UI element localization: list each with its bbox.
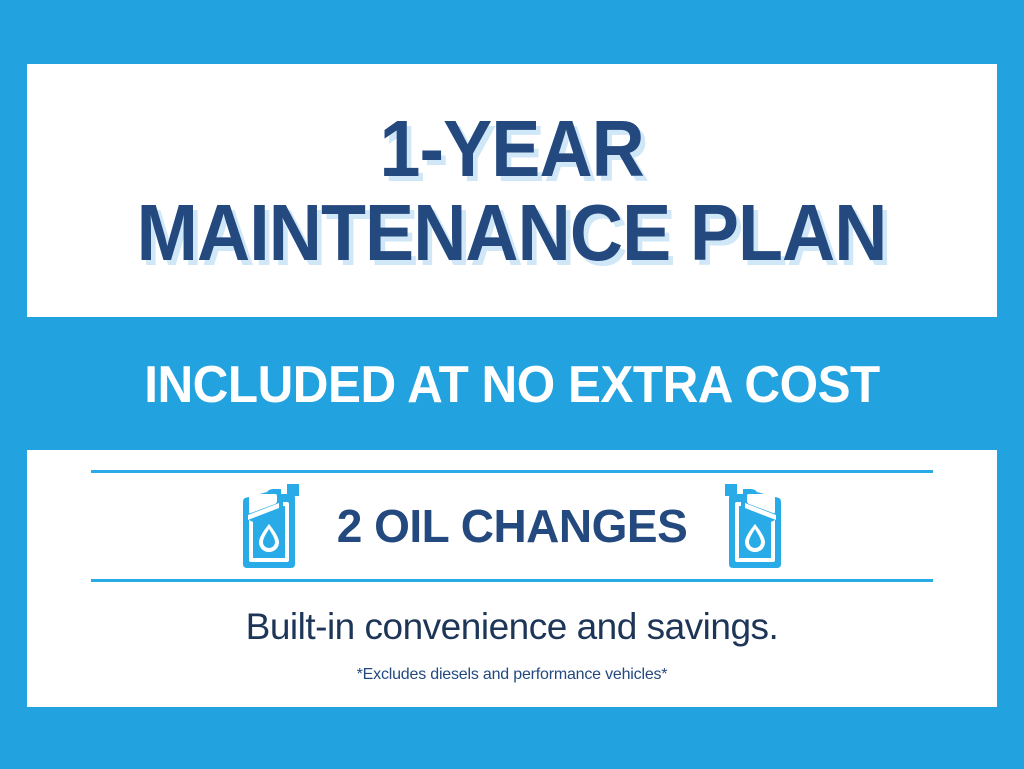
feature-row: 2 OIL CHANGES	[91, 473, 933, 579]
detail-card: 2 OIL CHANGES Built-in convenience and s…	[27, 450, 997, 707]
title-panel: 1-YEAR MAINTENANCE PLAN	[27, 64, 997, 317]
footnote-disclaimer: *Excludes diesels and performance vehicl…	[357, 666, 668, 684]
oil-jug-icon-right	[721, 482, 787, 570]
headline-line-2: MAINTENANCE PLAN	[137, 195, 887, 271]
tagline: Built-in convenience and savings.	[246, 606, 779, 648]
headline-line-1: 1-YEAR	[380, 111, 644, 187]
divider-bottom	[91, 579, 933, 582]
subtitle-banner: INCLUDED AT NO EXTRA COST	[26, 345, 999, 425]
feature-label: 2 OIL CHANGES	[337, 499, 688, 553]
oil-jug-icon-left	[237, 482, 303, 570]
promo-poster: 1-YEAR MAINTENANCE PLAN INCLUDED AT NO E…	[0, 0, 1024, 769]
